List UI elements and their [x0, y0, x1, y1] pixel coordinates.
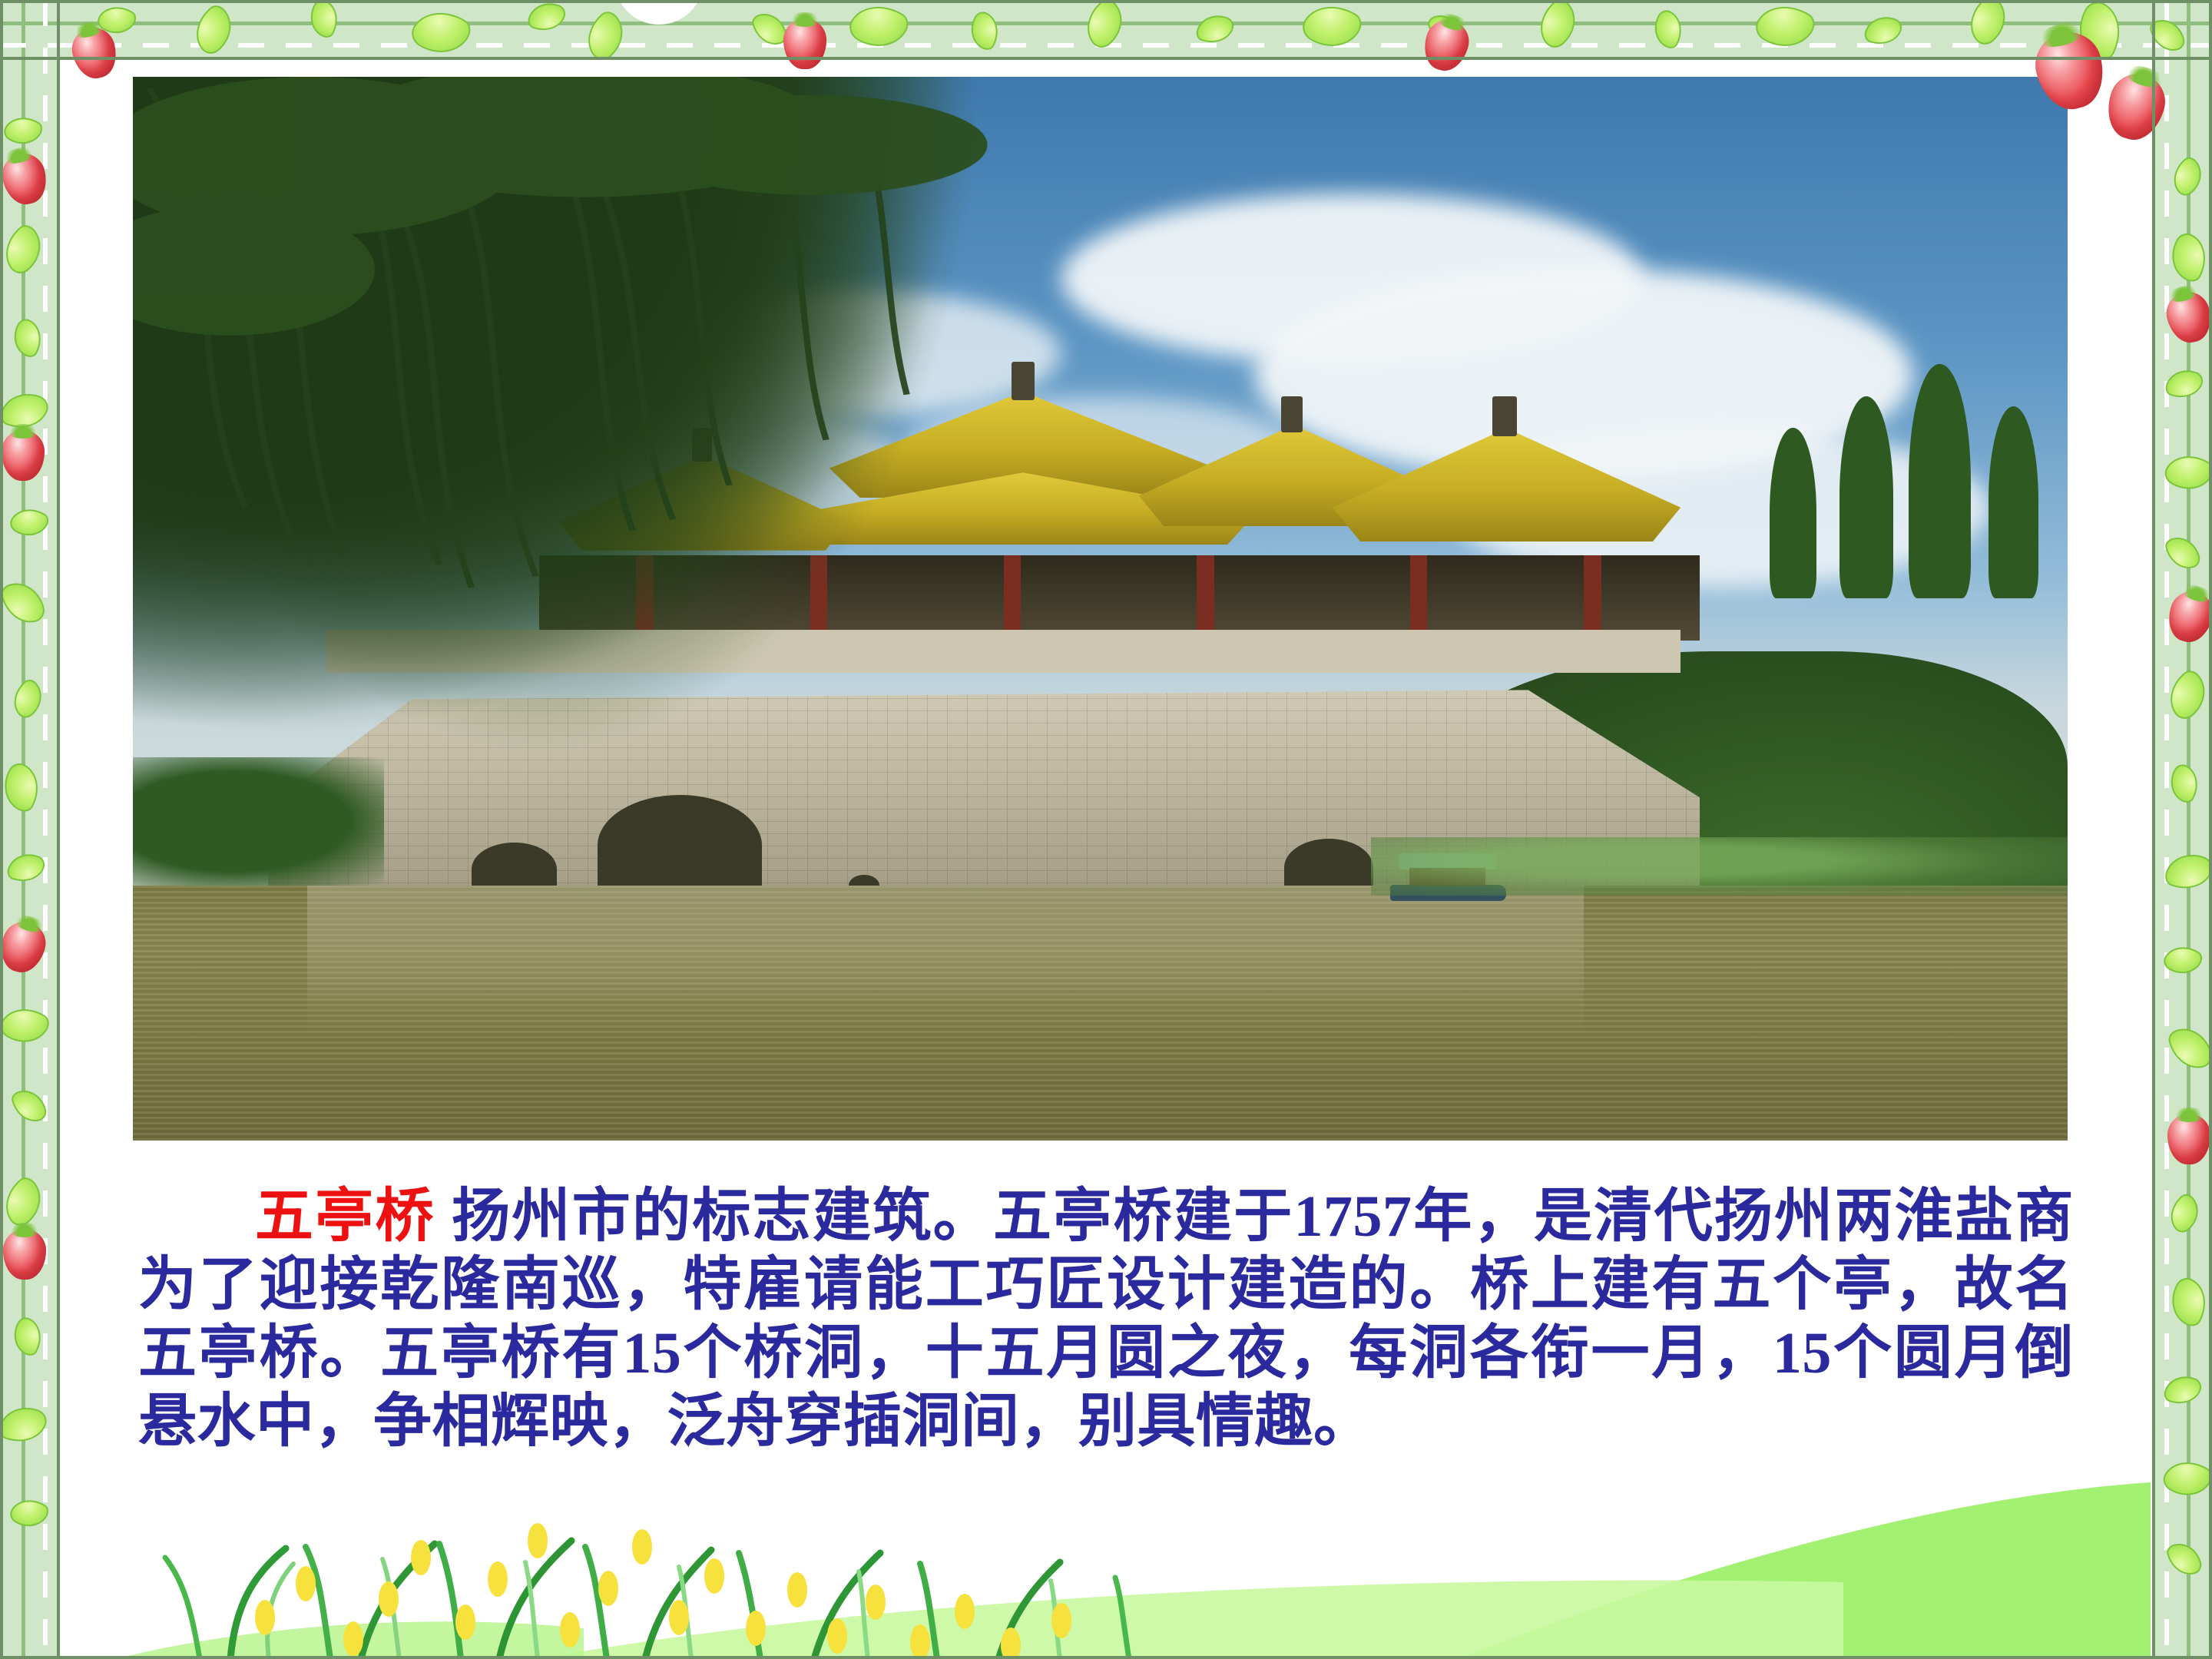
meadow-flowers — [255, 1523, 1071, 1659]
frame-rule-right — [2209, 0, 2212, 1659]
grass-blades — [165, 1541, 1129, 1659]
hill-mid — [538, 1581, 1843, 1659]
meadow-decoration — [0, 1467, 2212, 1659]
conifer-1 — [1909, 364, 1971, 598]
roof-finial-far-right — [1492, 396, 1517, 437]
frame-inner-rule-top — [0, 57, 2212, 60]
lotus-bank — [1371, 837, 2068, 896]
dashed-line-left — [43, 0, 48, 1659]
conifer-3 — [1988, 406, 2038, 598]
hill-right — [1459, 1482, 2151, 1659]
slide-root: 五亭桥 扬州市的标志建筑。五亭桥建于1757年，是清代扬州两淮盐商为了迎接乾隆南… — [0, 0, 2212, 1659]
frame-inner-rule-left — [57, 0, 60, 1659]
frame-inner-rule-right — [2152, 0, 2155, 1659]
grass-clump-left — [115, 1621, 584, 1659]
frame-rule-bottom — [0, 1656, 2212, 1659]
arch-main — [598, 795, 762, 896]
frame-rule-left — [0, 0, 3, 1659]
strawberry-icon — [783, 18, 826, 69]
dashed-line-right — [2164, 0, 2169, 1659]
willow-lower-bush — [133, 757, 384, 885]
conifer-4 — [1770, 428, 1816, 598]
roof-finial-right-inner — [1281, 396, 1303, 432]
caption-paragraph: 五亭桥 扬州市的标志建筑。五亭桥建于1757年，是清代扬州两淮盐商为了迎接乾隆南… — [138, 1183, 2074, 1456]
caption-title: 五亭桥 — [253, 1184, 435, 1249]
willow-strands — [133, 77, 1101, 757]
conifer-2 — [1839, 396, 1894, 598]
frame-rule-top — [0, 0, 2212, 3]
bridge-reflection — [307, 886, 1584, 1035]
bridge-photo — [133, 77, 2068, 1141]
roof-far-right — [1333, 429, 1681, 541]
